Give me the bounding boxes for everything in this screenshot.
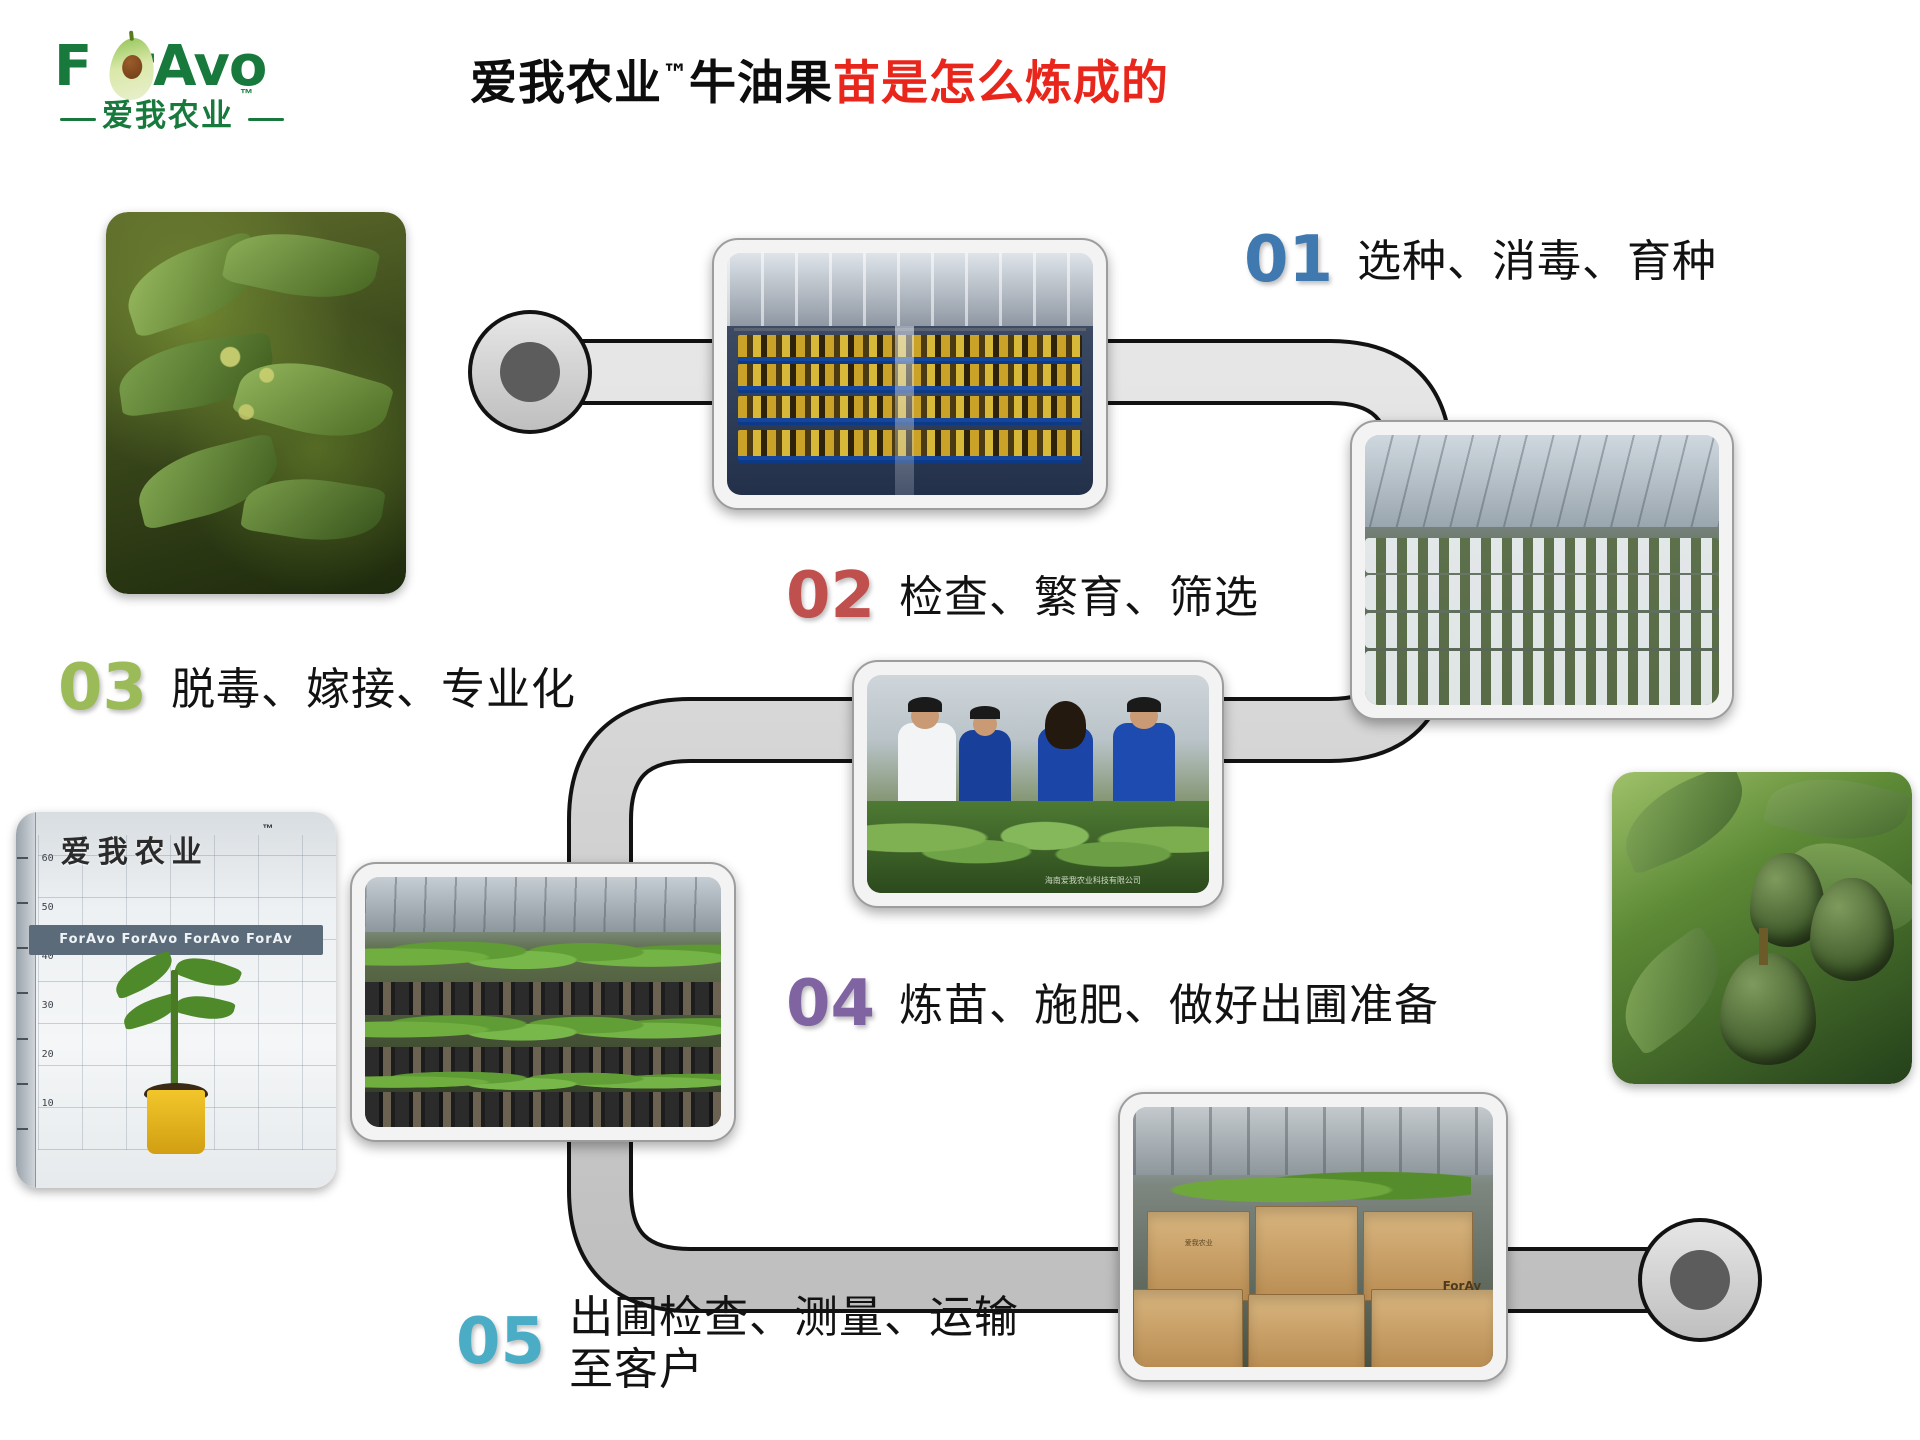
step-text-05: 出圃检查、测量、运输 至客户 — [569, 1284, 1019, 1396]
ruler-scale — [16, 812, 36, 1188]
step-label-05: 05 出圃检查、测量、运输 至客户 — [456, 1284, 1019, 1396]
ruler-label-1: 50 — [42, 902, 54, 913]
photo-potted-seedlings — [350, 862, 736, 1142]
photo-watermark-trademark-icon: ™ — [262, 823, 273, 835]
step-number-03: 03 — [58, 656, 147, 720]
photo-seedling-with-ruler: 60 50 40 30 20 10 爱我农业 ™ ForAvo ForAvo F… — [16, 812, 336, 1188]
step-number-01: 01 — [1244, 228, 1333, 292]
step-text-04: 炼苗、施肥、做好出圃准备 — [899, 972, 1439, 1032]
box-label: 爱我农业 — [1156, 1239, 1241, 1249]
ribbon-end-dot — [1670, 1250, 1730, 1310]
step-label-01: 01 选种、消毒、育种 — [1244, 228, 1717, 292]
step-label-03: 03 脱毒、嫁接、专业化 — [58, 656, 576, 720]
infographic-canvas: ForAvo 爱我农业 ™ 爱我农业™牛油果苗是怎么炼成的 — [0, 0, 1920, 1440]
step-label-02: 02 检查、繁育、筛选 — [786, 564, 1259, 628]
step-label-04: 04 炼苗、施肥、做好出圃准备 — [786, 972, 1439, 1036]
step-number-04: 04 — [786, 972, 875, 1036]
photo-packing-boxes: 爱我农业 ForAv — [1118, 1092, 1508, 1382]
ruler-label-4: 20 — [42, 1049, 54, 1060]
photo-brand-band: ForAvo ForAvo ForAvo ForAv — [29, 925, 323, 955]
photo-avocado-fruit-on-branch — [1612, 772, 1912, 1084]
photo-flowering-avocado-tree — [106, 212, 406, 594]
box-side-label: ForAv — [1443, 1279, 1482, 1293]
ruler-label-5: 10 — [42, 1098, 54, 1109]
step-number-05: 05 — [456, 1284, 545, 1374]
step-text-03: 脱毒、嫁接、专业化 — [171, 656, 576, 716]
ruler-label-0: 60 — [42, 853, 54, 864]
photo-greenhouse-propagation — [1350, 420, 1734, 720]
photo-staff-inspecting-plants: 海南爱我农业科技有限公司 — [852, 660, 1224, 908]
ribbon-start-dot — [500, 342, 560, 402]
photo-caption: 海南爱我农业科技有限公司 — [1045, 875, 1141, 886]
step-text-01: 选种、消毒、育种 — [1357, 228, 1717, 288]
step-text-02: 检查、繁育、筛选 — [899, 564, 1259, 624]
photo-seed-trays-greenhouse — [712, 238, 1108, 510]
step-number-02: 02 — [786, 564, 875, 628]
ruler-label-3: 30 — [42, 1000, 54, 1011]
photo-watermark-text: 爱我农业 — [61, 827, 209, 871]
